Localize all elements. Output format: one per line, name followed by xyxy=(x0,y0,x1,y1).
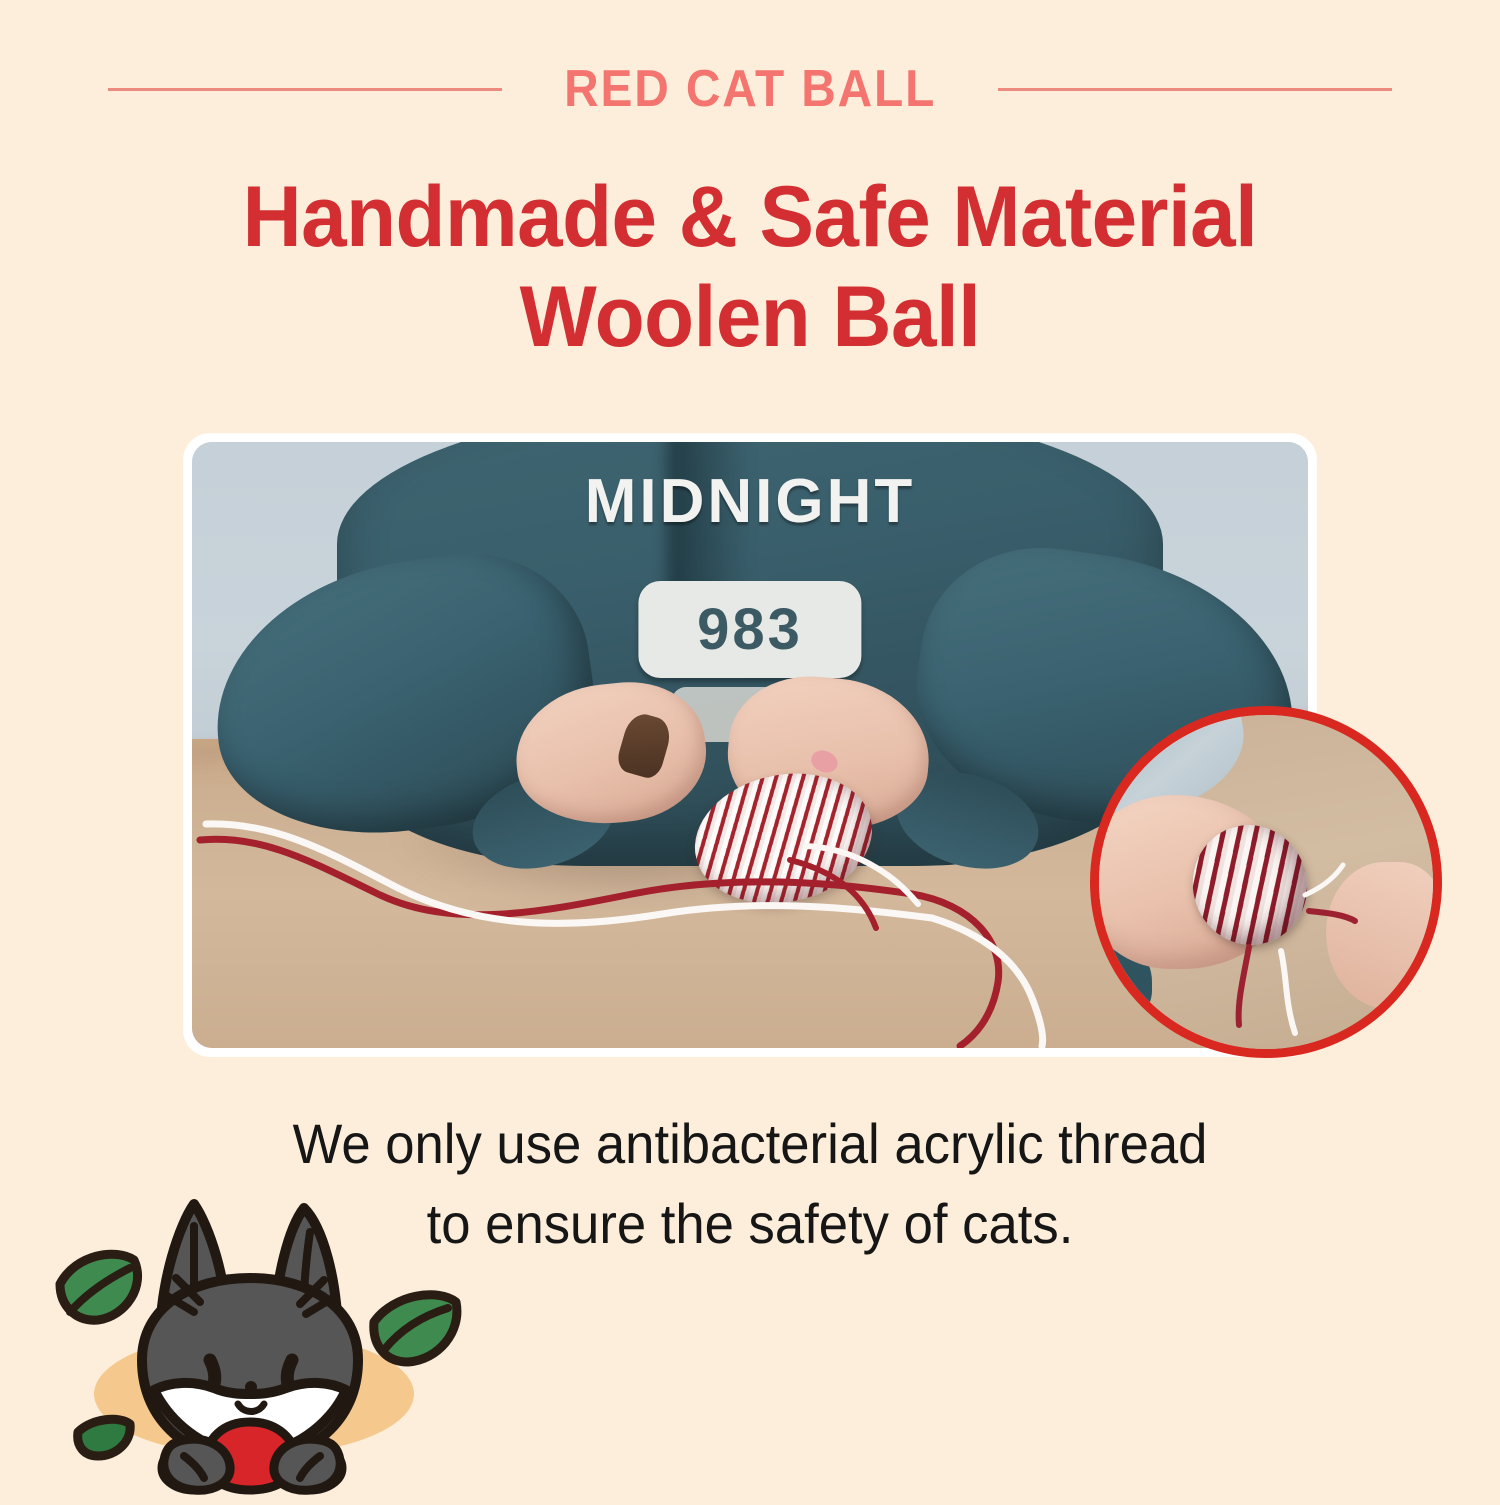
divider-line-right xyxy=(998,88,1392,91)
cat-mascot xyxy=(42,1182,462,1500)
eyebrow-label: RED CAT BALL xyxy=(564,63,936,115)
mascot-eye-right xyxy=(287,1360,292,1384)
eyebrow-row: RED CAT BALL xyxy=(0,58,1500,120)
body-copy-line-1: We only use antibacterial acrylic thread xyxy=(45,1104,1455,1184)
mascot-nose xyxy=(245,1381,257,1393)
mascot-paw-left xyxy=(164,1439,230,1490)
cat-mascot-illustration xyxy=(42,1182,462,1500)
inset-yarn-strands xyxy=(1099,715,1433,1049)
mascot-eye-left xyxy=(210,1360,215,1384)
divider-line-left xyxy=(108,88,502,91)
leaf-icon-bottom-left xyxy=(78,1419,130,1456)
headline-line-1: Handmade & Safe Material xyxy=(38,168,1463,268)
page-title: Handmade & Safe Material Woolen Ball xyxy=(0,168,1500,368)
leaf-icon-top-left xyxy=(60,1254,138,1320)
mascot-paw-right xyxy=(274,1439,340,1490)
photo-inset-circle xyxy=(1090,706,1442,1058)
photo-inset-content xyxy=(1099,715,1433,1049)
headline-line-2: Woolen Ball xyxy=(38,268,1463,368)
leaf-icon-right xyxy=(374,1295,457,1362)
